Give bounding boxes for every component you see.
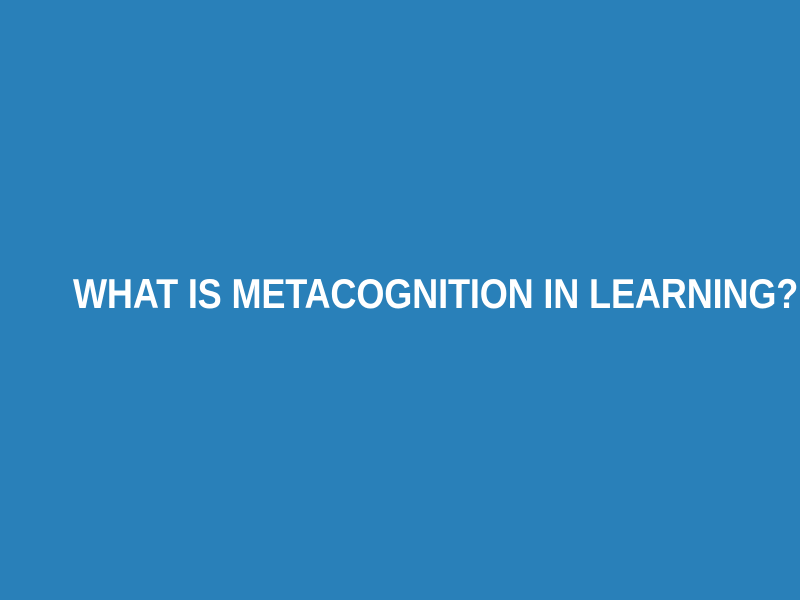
page-title-text: WHAT IS METACOGNITION IN LEARNING? — [73, 272, 798, 316]
headline-container: WHAT IS METACOGNITION IN LEARNING? — [0, 0, 800, 600]
article-header-banner: WHAT IS METACOGNITION IN LEARNING? — [0, 0, 800, 600]
page-title: WHAT IS METACOGNITION IN LEARNING? — [0, 272, 800, 316]
